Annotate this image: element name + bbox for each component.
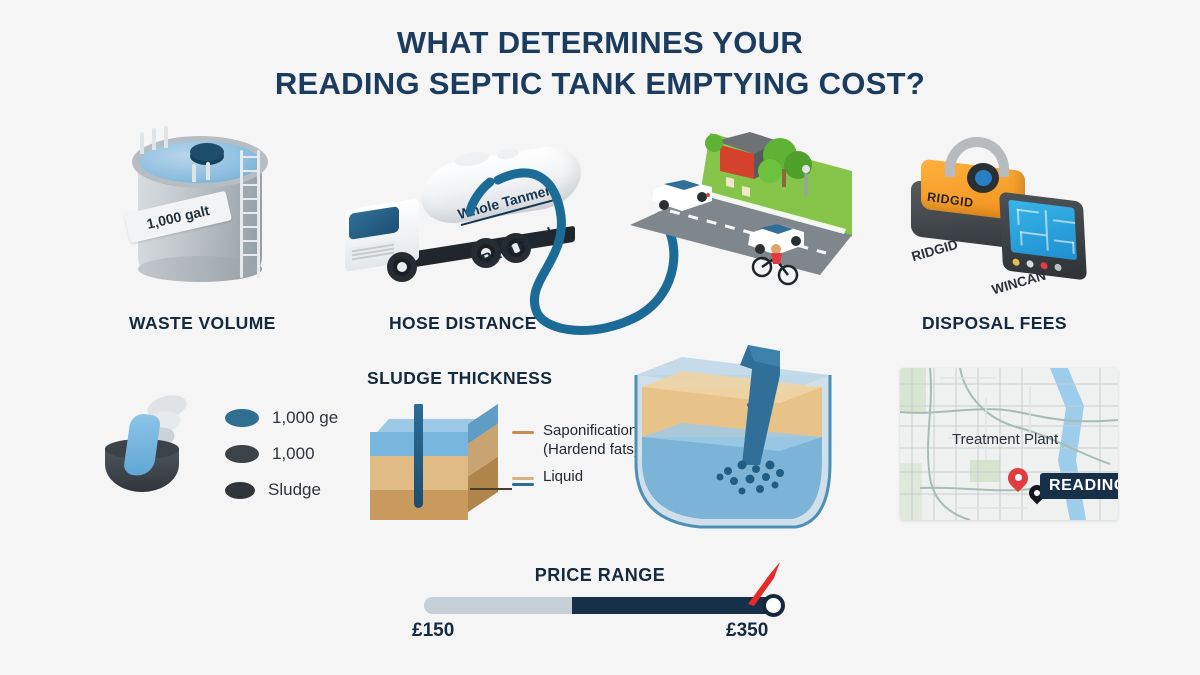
legend-swatch xyxy=(225,482,255,499)
caption-waste-volume: WASTE VOLUME xyxy=(129,313,276,334)
map-pin-icon[interactable] xyxy=(1008,468,1028,495)
tank-rail-hook-icon xyxy=(206,162,210,180)
sludge-thickness-illustration: Saponification (Hardend fats) Liquid xyxy=(362,398,592,526)
title-line-1: WHAT DETERMINES YOUR xyxy=(397,25,803,60)
price-min-label: £150 xyxy=(412,620,454,642)
waste-volume-illustration: 1,000 galt xyxy=(118,118,286,290)
tank-rail-hook-icon xyxy=(152,128,156,150)
legend-item: Sludge xyxy=(225,480,321,500)
price-range-title: PRICE RANGE xyxy=(0,565,1200,586)
street-scene-illustration xyxy=(630,125,852,295)
legend-swatch xyxy=(512,431,534,437)
tank-cross-section-illustration xyxy=(620,345,860,540)
probe-icon xyxy=(414,404,423,508)
caption-hose-distance: HOSE DISTANCE xyxy=(389,313,537,334)
map-place-label: Treatment Plant xyxy=(952,431,1058,448)
tank-rail-hook-icon xyxy=(192,164,196,182)
disposal-equipment-illustration: RIDGID RIDGID WINCAN xyxy=(905,135,1095,300)
map-city-badge: READING xyxy=(1040,473,1118,499)
sludge-legend-illustration: 1,000 ge 1,000 Sludge xyxy=(105,392,315,514)
ridgid-lens-icon xyxy=(967,163,999,193)
legend-item: 1,000 xyxy=(225,444,315,464)
tank-rail-hook-icon xyxy=(140,132,144,154)
price-indicator-arrow-icon xyxy=(740,562,782,608)
legend-swatch xyxy=(512,477,534,489)
caption-disposal-fees: DISPOSAL FEES xyxy=(922,313,1067,334)
price-max-label: £350 xyxy=(726,620,768,642)
price-range-slider[interactable] xyxy=(424,597,776,614)
tank-hatch-icon xyxy=(190,143,224,161)
ridgid-device-label: RIDGID xyxy=(910,237,960,264)
callout-leader-line xyxy=(470,488,512,490)
legend-item: 1,000 ge xyxy=(225,408,338,428)
wincan-screen xyxy=(1008,200,1077,261)
caption-sludge-thickness: SLUDGE THICKNESS xyxy=(367,368,552,389)
legend-label: Sludge xyxy=(268,480,321,500)
infographic-canvas: WHAT DETERMINES YOUR READING SEPTIC TANK… xyxy=(0,0,1200,675)
tank-rail-hook-icon xyxy=(164,126,168,148)
title-line-2: READING SEPTIC TANK EMPTYING COST? xyxy=(0,63,1200,104)
tank-ladder-icon xyxy=(238,150,264,278)
slab-side-face xyxy=(468,404,498,512)
page-title: WHAT DETERMINES YOUR READING SEPTIC TANK… xyxy=(0,22,1200,104)
legend-swatch xyxy=(225,409,259,427)
legend-label: 1,000 xyxy=(272,444,315,464)
legend-label: 1,000 ge xyxy=(272,408,338,428)
legend-swatch xyxy=(225,445,259,463)
legend-label: Liquid xyxy=(543,468,583,487)
treatment-plant-map[interactable]: Treatment Plant READING xyxy=(900,368,1118,520)
